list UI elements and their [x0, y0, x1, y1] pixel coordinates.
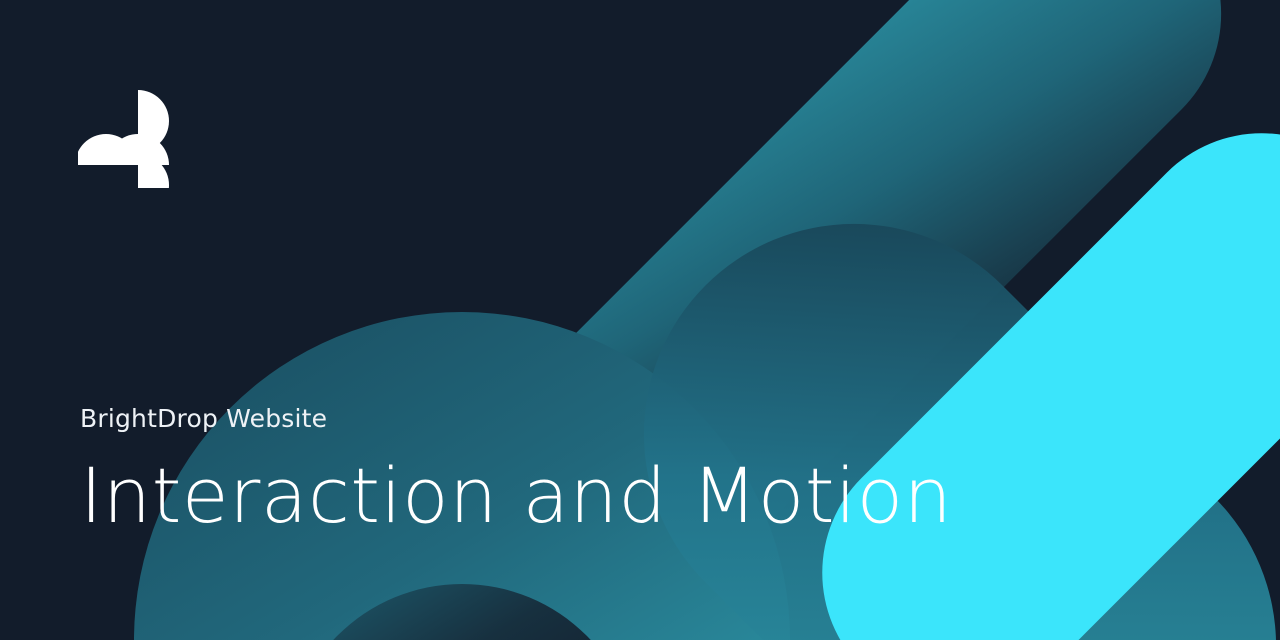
presentation-slide: BrightDrop Website Interaction and Motio… [0, 0, 1280, 640]
slide-content: BrightDrop Website Interaction and Motio… [0, 0, 1280, 640]
eyebrow-label: BrightDrop Website [80, 404, 1140, 434]
page-title: Interaction and Motion [80, 456, 1140, 537]
title-block: BrightDrop Website Interaction and Motio… [80, 404, 1140, 537]
brightdrop-logo [78, 88, 174, 188]
